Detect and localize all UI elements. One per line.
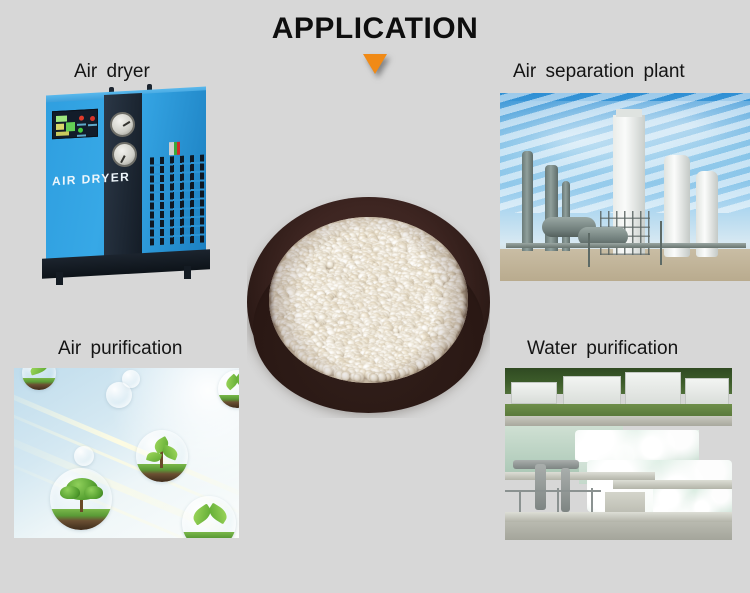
alumina-ball-bed xyxy=(269,217,468,383)
caption-air-dryer: Air dryer xyxy=(74,61,150,83)
tree-crown xyxy=(60,486,80,499)
dryer-foot-right xyxy=(184,266,191,279)
bubble-soil xyxy=(182,532,236,538)
distillation-column xyxy=(522,151,533,251)
plant-building xyxy=(563,376,621,406)
bubble-with-tree xyxy=(50,468,112,530)
photo-water-purification xyxy=(505,368,732,540)
dryer-control-panel xyxy=(52,109,98,140)
walkway xyxy=(505,416,732,426)
caption-water-purification: Water purification xyxy=(527,338,678,360)
triangle-down-icon xyxy=(363,54,387,74)
air-dryer-illustration: AIR DRYER xyxy=(34,84,224,289)
panel-display-segment xyxy=(56,131,69,136)
aeration-froth xyxy=(575,430,699,462)
dryer-badge xyxy=(169,142,180,156)
panel-display-segment xyxy=(66,122,75,132)
panel-label-tick xyxy=(88,124,97,127)
dryer-ventilation-grille xyxy=(150,154,205,245)
leaf-shape xyxy=(29,368,49,376)
bubble-plain xyxy=(106,382,132,408)
photo-air-separation-plant xyxy=(500,93,750,281)
bubble-plain xyxy=(74,446,94,466)
application-collage: APPLICATION Air dryer xyxy=(0,0,750,593)
plant-building xyxy=(625,372,681,406)
cold-box-tower-cap xyxy=(616,109,642,117)
lawn-strip xyxy=(505,404,732,416)
distribution-pipe xyxy=(535,464,546,510)
distribution-pipe xyxy=(513,460,579,469)
tree-crown xyxy=(84,486,103,499)
panel-label-tick xyxy=(77,134,86,137)
vent-slat-overlay xyxy=(150,154,205,245)
pressure-gauge-bottom xyxy=(112,142,137,167)
dryer-foot-left xyxy=(56,272,63,285)
caption-air-purification: Air purification xyxy=(58,338,182,360)
concrete-apron xyxy=(505,522,732,540)
bubble-with-sprout xyxy=(22,368,56,390)
photo-air-dryer: AIR DRYER xyxy=(34,84,224,289)
basin-wall xyxy=(505,472,655,480)
pipe-run xyxy=(506,243,746,248)
leaf-shape xyxy=(206,503,230,525)
page-title: APPLICATION xyxy=(0,12,750,46)
caption-air-separation-plant: Air separation plant xyxy=(513,61,685,83)
plant-building xyxy=(685,378,729,406)
distillation-column xyxy=(545,165,558,251)
alumina-balls-canvas xyxy=(269,217,468,383)
basin-wall xyxy=(613,480,732,489)
leaf-shape xyxy=(161,444,180,460)
bubble-with-seedling xyxy=(136,430,188,482)
cryogenic-storage-tank xyxy=(664,155,690,257)
distillation-column xyxy=(562,181,570,251)
panel-display-segment xyxy=(56,124,64,130)
photo-air-purification xyxy=(14,368,239,538)
panel-red-button xyxy=(90,116,95,121)
panel-red-button xyxy=(79,115,84,120)
lamp-post xyxy=(588,233,590,267)
photo-activated-alumina-balls xyxy=(247,193,490,418)
panel-display-segment xyxy=(56,115,67,122)
lamp-post xyxy=(660,221,662,265)
pressure-gauge-top xyxy=(110,112,135,137)
plant-building xyxy=(511,382,557,404)
panel-green-button xyxy=(78,128,83,133)
basin-wall xyxy=(505,512,732,522)
panel-label-tick xyxy=(77,123,86,126)
